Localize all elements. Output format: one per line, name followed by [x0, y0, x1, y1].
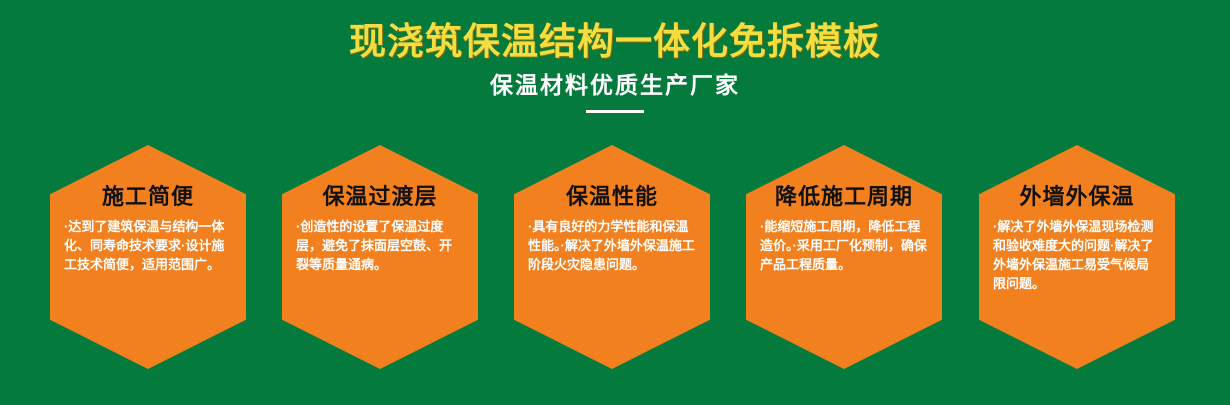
page-subtitle: 保温材料优质生产厂家: [0, 63, 1230, 99]
feature-title-2: 保温过渡层: [290, 145, 470, 211]
feature-body-1: ·达到了建筑保温与结构一体化、同寿命技术要求·设计施工技术简便，适用范围广。: [58, 211, 238, 274]
feature-title-4: 降低施工周期: [754, 145, 934, 211]
feature-title-3: 保温性能: [522, 145, 702, 211]
feature-body-5: ·解决了外墙外保温现场检测和验收难度大的问题·解决了外墙外保温施工易受气候局限问…: [987, 211, 1167, 293]
feature-hexagon-2[interactable]: 保温过渡层 ·创造性的设置了保温过度层，避免了抹面层空鼓、开裂等质量通病。: [282, 145, 478, 369]
feature-hexagon-5[interactable]: 外墙外保温 ·解决了外墙外保温现场检测和验收难度大的问题·解决了外墙外保温施工易…: [979, 145, 1175, 369]
feature-body-4: ·能缩短施工周期，降低工程造价。·采用工厂化预制，确保产品工程质量。: [754, 211, 934, 274]
feature-hexagon-1[interactable]: 施工简便 ·达到了建筑保温与结构一体化、同寿命技术要求·设计施工技术简便，适用范…: [50, 145, 246, 369]
feature-title-1: 施工简便: [58, 145, 238, 211]
feature-title-5: 外墙外保温: [987, 145, 1167, 211]
page-title: 现浇筑保温结构一体化免拆模板: [0, 0, 1230, 63]
title-divider: [586, 110, 644, 113]
feature-hexagon-4[interactable]: 降低施工周期 ·能缩短施工周期，降低工程造价。·采用工厂化预制，确保产品工程质量…: [746, 145, 942, 369]
feature-body-3: ·具有良好的力学性能和保温性能。·解决了外墙外保温施工阶段火灾隐患问题。: [522, 211, 702, 274]
feature-hexagon-row: 施工简便 ·达到了建筑保温与结构一体化、同寿命技术要求·设计施工技术简便，适用范…: [0, 145, 1230, 369]
feature-body-2: ·创造性的设置了保温过度层，避免了抹面层空鼓、开裂等质量通病。: [290, 211, 470, 274]
feature-hexagon-3[interactable]: 保温性能 ·具有良好的力学性能和保温性能。·解决了外墙外保温施工阶段火灾隐患问题…: [514, 145, 710, 369]
banner-header: 现浇筑保温结构一体化免拆模板 保温材料优质生产厂家: [0, 0, 1230, 113]
promotional-banner: 现浇筑保温结构一体化免拆模板 保温材料优质生产厂家 施工简便 ·达到了建筑保温与…: [0, 0, 1230, 405]
